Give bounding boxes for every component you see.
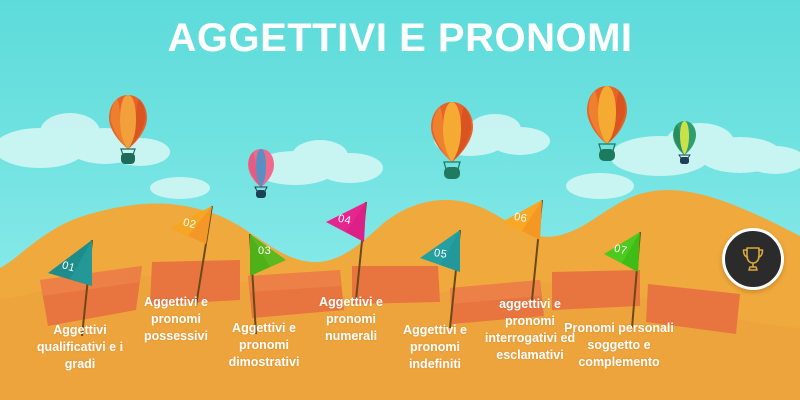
step-label-02: Aggettivi e pronomi possessivi [128,294,224,345]
flag-number-03: 03 [258,245,271,257]
step-label-07: Pronomi personali soggetto e complemento [562,320,676,371]
flag-marker-05[interactable]: 05 [414,222,478,337]
infographic-canvas: AGGETTIVI E PRONOMI [0,0,800,400]
step-label-05: Aggettivi e pronomi indefiniti [386,322,484,373]
trophy-badge[interactable] [722,228,784,290]
trophy-icon [737,243,769,275]
flag-marker-06[interactable]: 06 [500,194,564,309]
step-label-04: Aggettivi e pronomi numerali [304,294,398,345]
step-label-03: Aggettivi e pronomi dimostrativi [216,320,312,371]
flag-number-05: 05 [433,247,448,261]
step-label-01: Aggettivi qualificativi e i gradi [24,322,136,373]
flag-number-04: 04 [337,213,352,227]
flag-number-06: 06 [513,211,528,225]
